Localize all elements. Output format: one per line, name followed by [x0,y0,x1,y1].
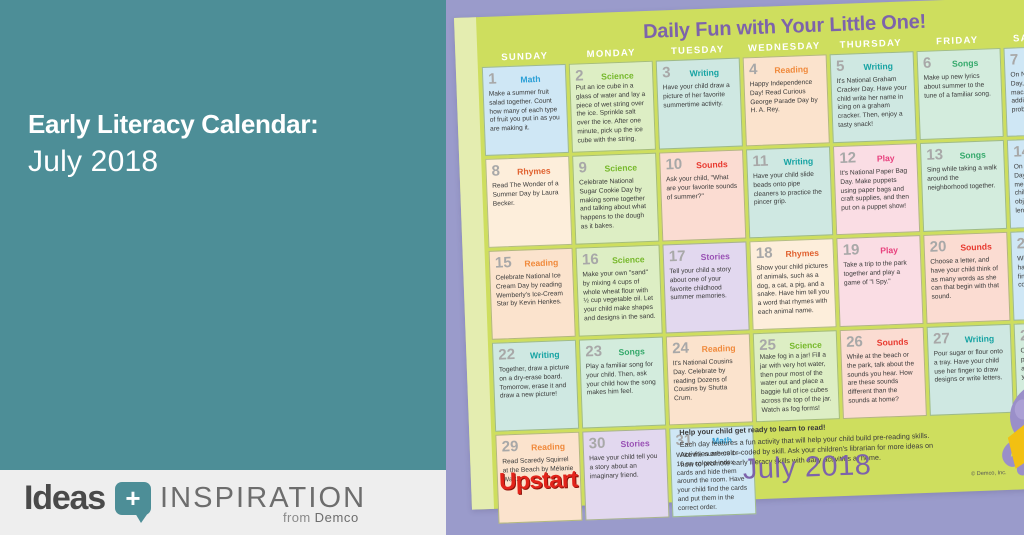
calendar-day-header: 11Writing [752,152,825,170]
calendar-day-number: 18 [756,245,773,261]
calendar-day-skill-label: Stories [609,439,661,449]
calendar-day-activity-text: Make a summer fruit salad together. Coun… [489,88,563,134]
calendar-day-skill-label: Writing [772,157,824,167]
calendar-day-activity-text: Celebrate National Sugar Cookie Day by m… [579,177,653,232]
calendar-day-activity-text: While grocery shopping, have your child … [1017,253,1024,291]
calendar-day-header: 5Writing [836,56,909,74]
calendar-day-number: 17 [669,249,686,265]
calendar-day-header: 22Writing [498,345,571,363]
calendar-day-number: 6 [923,56,932,71]
calendar-day-activity-text: Sing while taking a walk around the neig… [927,164,1000,193]
calendar-day-activity-text: While at the beach or the park, talk abo… [847,351,921,406]
left-promo-panel: Early Literacy Calendar: July 2018 [0,0,446,470]
calendar-day-cell[interactable]: 11WritingHave your child slide beads ont… [746,146,833,238]
calendar-day-header: 15Reading [495,253,568,271]
calendar-day-cell[interactable]: 24ReadingIt's National Cousins Day. Cele… [666,333,753,425]
calendar-day-skill-label: Songs [935,58,995,69]
plus-icon: + [115,482,151,515]
calendar-day-number: 12 [839,150,856,166]
calendar-day-activity-text: Take a trip to the park together and pla… [843,259,916,288]
calendar-day-cell[interactable]: 15ReadingCelebrate National Ice Cream Da… [489,248,576,340]
calendar-day-cell[interactable]: 30StoriesHave your child tell you a stor… [582,429,669,521]
page-title-primary: Early Literacy Calendar: [28,110,428,140]
calendar-day-cell[interactable]: 26SoundsWhile at the beach or the park, … [840,327,927,419]
calendar-day-header: 13Songs [926,145,999,163]
logo-from-word: from [283,510,311,525]
calendar-day-skill-label: Sounds [686,160,738,170]
calendar-day-number: 4 [749,62,758,77]
calendar-day-header: 6Songs [923,53,996,71]
calendar-day-activity-text: Have your child tell you a story about a… [589,453,662,482]
calendar-day-skill-label: Play [860,153,912,163]
calendar-day-cell[interactable]: 13SongsSing while taking a walk around t… [920,140,1007,232]
calendar-day-cell[interactable]: 6SongsMake up new lyrics about summer to… [917,48,1004,140]
calendar-day-header: 24Reading [672,339,745,357]
brand-footer: Ideas + INSPIRATION from Demco [0,470,446,535]
calendar-day-number: 15 [495,255,512,271]
calendar-day-number: 9 [578,160,587,175]
calendar-day-skill-label: Sounds [950,242,1002,252]
calendar-day-header: 30Stories [588,434,661,452]
calendar-day-number: 16 [582,252,599,268]
calendar-day-skill-label: Writing [954,334,1006,344]
calendar-day-activity-text: On National Macaroni Day, use pieces of … [1010,69,1024,115]
calendar-day-skill-label: Reading [516,258,568,268]
calendar-day-number: 10 [665,157,682,173]
calendar-day-skill-label: Sounds [867,337,919,347]
octopus-reading-book-icon [995,366,1024,488]
calendar-day-activity-text: Together, draw a picture on a dry-erase … [499,364,572,402]
calendar-day-skill-label: Science [591,163,651,174]
day-of-week-label: TUESDAY [654,44,741,58]
calendar-day-header: 12Play [839,148,912,166]
calendar-day-cell[interactable]: 3WritingHave your child draw a picture o… [656,58,743,150]
calendar-day-cell[interactable]: 9ScienceCelebrate National Sugar Cookie … [572,153,659,245]
calendar-day-activity-text: Have your child slide beads onto pipe cl… [753,171,826,209]
day-of-week-label: FRIDAY [914,34,1001,48]
calendar-sheet-area: Daily Fun with Your Little One! SUNDAYMO… [446,0,1024,535]
calendar-day-number: 20 [929,239,946,255]
calendar-day-skill-label: Science [780,340,832,350]
calendar-day-skill-label: Songs [606,347,658,357]
calendar-day-header: 18Rhymes [756,243,829,261]
calendar-day-activity-text: Put an ice cube in a glass of water and … [576,82,650,146]
calendar-day-header: 14Math [1013,142,1024,160]
day-of-week-label: WEDNESDAY [741,40,828,54]
calendar-day-skill-label: Rhymes [504,166,564,177]
calendar-day-cell[interactable]: 25ScienceMake fog in a jar! Fill a jar w… [753,330,840,422]
calendar-day-cell[interactable]: 20SoundsChoose a letter, and have your c… [923,232,1010,324]
calendar-day-skill-label: Reading [522,442,574,452]
calendar-day-header: 21Math [1016,234,1024,252]
calendar-day-number: 1 [488,71,497,86]
calendar-day-header: 7Math [1010,50,1024,68]
calendar-day-activity-text: Ask your child, "What are your favorite … [666,174,739,203]
calendar-day-skill-label: Play [863,245,915,255]
calendar-day-number: 23 [585,344,602,360]
calendar-day-cell[interactable]: 14MathOn National Measure Day, pull out … [1007,137,1024,229]
calendar-day-cell[interactable]: 7MathOn National Macaroni Day, use piece… [1003,45,1024,137]
calendar-day-cell[interactable]: 5WritingIt's National Graham Cracker Day… [830,51,917,143]
calendar-day-activity-text: It's National Paper Bag Day. Make puppet… [840,167,914,213]
calendar-day-number: 27 [933,331,950,347]
logo-inspiration-word: INSPIRATION [160,484,366,513]
calendar-day-activity-text: Make up new lyrics about summer to the t… [923,72,996,101]
calendar-day-header: 28Songs [1020,326,1024,344]
calendar-day-header: 25Science [759,335,832,353]
calendar-day-activity-text: Have your child draw a picture of her fa… [663,82,736,111]
calendar-day-number: 21 [1016,236,1024,252]
calendar-day-header: 19Play [843,240,916,258]
calendar-day-skill-label: Science [603,255,655,265]
calendar-day-number: 13 [926,147,943,163]
calendar-day-number: 29 [501,439,518,455]
calendar-day-cell[interactable]: 12PlayIt's National Paper Bag Day. Make … [833,143,920,235]
plus-glyph: + [115,482,151,515]
calendar-day-header: 2Science [575,66,648,84]
calendar-day-skill-label: Math [501,74,561,85]
calendar-sheet: Daily Fun with Your Little One! SUNDAYMO… [454,0,1024,510]
calendar-day-header: 20Sounds [929,237,1002,255]
calendar-day-activity-text: Choose a letter, and have your child thi… [930,256,1004,302]
calendar-day-activity-text: It's National Cousins Day. Celebrate by … [673,358,747,404]
calendar-day-cell[interactable]: 23SongsPlay a familiar song for your chi… [579,337,666,429]
calendar-day-cell[interactable]: 1MathMake a summer fruit salad together.… [482,64,569,156]
calendar-day-number: 30 [588,436,605,452]
calendar-day-skill-label: Songs [947,150,999,160]
calendar-day-cell[interactable]: 10SoundsAsk your child, "What are your f… [659,149,746,241]
calendar-day-skill-label: Science [587,71,647,82]
calendar-day-activity-text: Celebrate National Ice Cream Day by read… [495,272,568,310]
calendar-day-number: 19 [843,242,860,258]
calendar-day-header: 10Sounds [665,155,738,173]
calendar-day-cell[interactable]: 2SciencePut an ice cube in a glass of wa… [569,61,656,153]
page-title: Early Literacy Calendar: July 2018 [28,110,428,180]
calendar-day-header: 1Math [488,69,561,87]
calendar-day-number: 25 [759,337,776,353]
calendar-day-number: 7 [1010,52,1019,67]
calendar-day-skill-label: Stories [689,252,741,262]
calendar-day-number: 5 [836,59,845,74]
calendar-day-header: 26Sounds [846,332,919,350]
calendar-day-skill-label: Writing [519,350,571,360]
calendar-day-number: 3 [662,65,671,80]
calendar-day-skill-label: Rhymes [776,248,828,258]
calendar-day-header: 17Stories [669,247,742,265]
calendar-day-number: 2 [575,68,584,83]
calendar-day-number: 14 [1013,144,1024,160]
logo-from-demco: from Demco [283,510,359,525]
day-of-week-label: THURSDAY [827,37,914,51]
calendar-day-activity-text: Happy Independence Day! Read Curious Geo… [750,79,823,117]
calendar-day-cell[interactable]: 22WritingTogether, draw a picture on a d… [492,340,579,432]
calendar-day-cell[interactable]: 19PlayTake a trip to the park together a… [836,235,923,327]
calendar-day-skill-label: Reading [761,65,821,76]
calendar-day-header: 4Reading [749,60,822,78]
upstart-logo: Upstart [499,466,578,497]
calendar-day-cell[interactable]: 8RhymesRead The Wonder of a Summer Day b… [485,156,572,248]
calendar-day-header: 29Reading [501,437,574,455]
calendar-day-activity-text: On National Measure Day, pull out a tape… [1014,161,1024,216]
calendar-day-header: 23Songs [585,342,658,360]
calendar-day-activity-text: Tell your child a story about one of you… [669,266,742,304]
logo-demco-word: Demco [315,510,359,525]
calendar-month-label: July 2018 [742,449,872,487]
calendar-day-header: 3Writing [662,63,735,81]
calendar-day-activity-text: It's National Graham Cracker Day. Have y… [836,75,910,130]
calendar-day-cell[interactable]: 4ReadingHappy Independence Day! Read Cur… [743,54,830,146]
calendar-day-activity-text: Play a familiar song for your child. The… [586,361,659,399]
calendar-day-activity-text: Read The Wonder of a Summer Day by Laura… [492,180,565,209]
screenshot-root: Early Literacy Calendar: July 2018 Ideas… [0,0,1024,535]
calendar-day-activity-text: Make your own "sand" by mixing 4 cups of… [582,269,656,324]
day-of-week-label: SATURDAY [1000,31,1024,45]
calendar-day-header: 16Science [582,250,655,268]
calendar-day-header: 9Science [578,158,651,176]
calendar-day-skill-label: Writing [674,68,734,79]
calendar-day-skill-label: Reading [693,344,745,354]
calendar-day-number: 26 [846,334,863,350]
calendar-day-activity-text: Show your child pictures of animals, suc… [756,262,830,317]
calendar-day-cell[interactable]: 18RhymesShow your child pictures of anim… [749,238,836,330]
calendar-day-skill-label: Writing [848,61,908,72]
day-of-week-label: MONDAY [568,47,655,61]
calendar-day-number: 11 [752,154,768,170]
calendar-day-number: 8 [491,163,500,178]
logo-ideas-word: Ideas [24,481,105,515]
calendar-day-activity-text: Make fog in a jar! Fill a jar with very … [760,351,834,415]
calendar-day-number: 24 [672,341,689,357]
calendar-day-cell[interactable]: 17StoriesTell your child a story about o… [662,241,749,333]
calendar-day-cell[interactable]: 21MathWhile grocery shopping, have your … [1010,229,1024,321]
page-title-secondary: July 2018 [28,143,428,181]
day-of-week-label: SUNDAY [481,50,568,64]
calendar-day-cell[interactable]: 16ScienceMake your own "sand" by mixing … [575,245,662,337]
calendar-day-header: 27Writing [933,329,1006,347]
calendar-day-header: 8Rhymes [491,161,564,179]
calendar-day-number: 22 [498,347,515,363]
calendar-day-number: 28 [1020,328,1024,344]
